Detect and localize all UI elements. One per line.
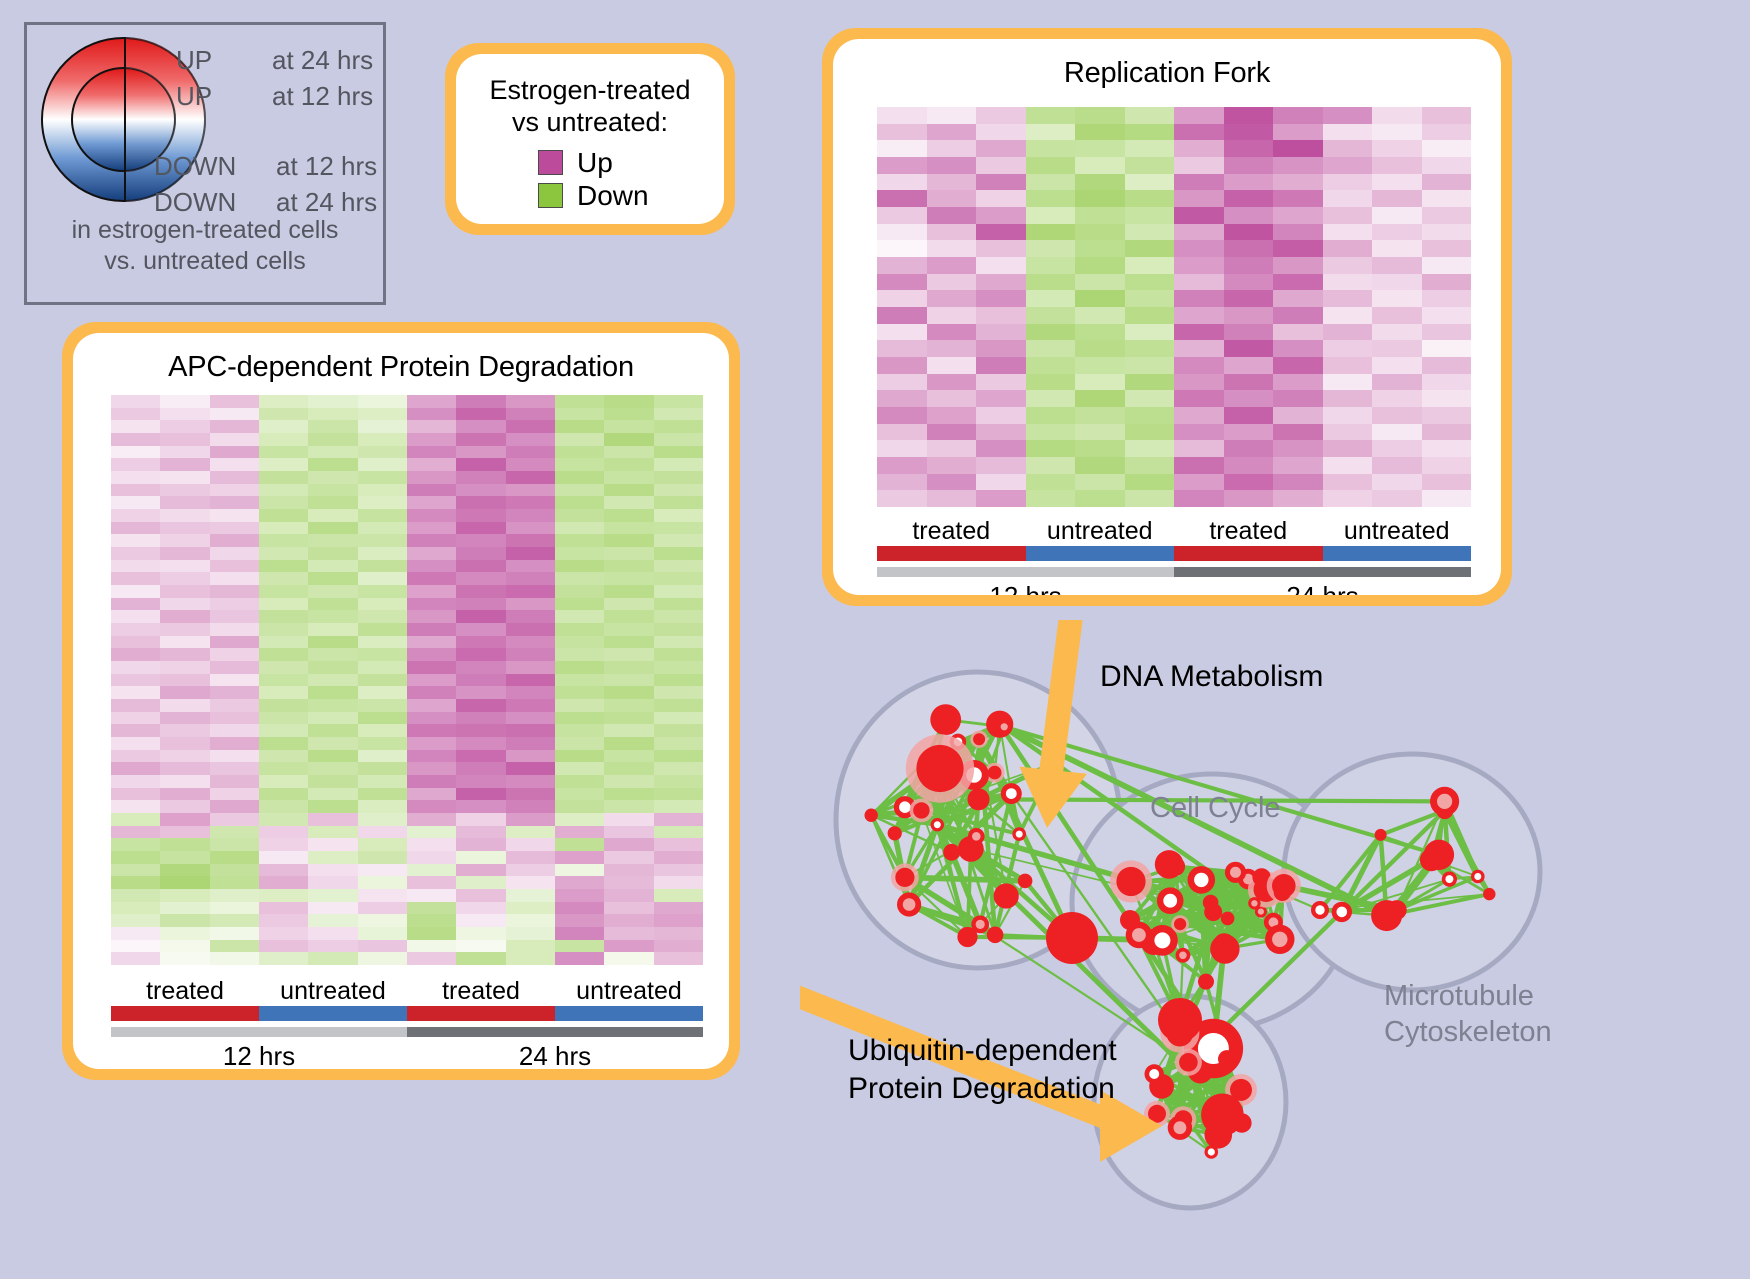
heatmap-cell [1026, 224, 1076, 241]
heatmap-cell [1224, 307, 1274, 324]
heatmap-cell [1026, 107, 1076, 124]
network-node[interactable] [930, 704, 961, 735]
heatmap-cell [111, 648, 160, 661]
heatmap-cell [259, 674, 308, 687]
heatmap-cell [604, 585, 653, 598]
heatmap-cell [308, 952, 357, 965]
heatmap-cell [1422, 324, 1472, 341]
heatmap-cell [877, 457, 927, 474]
heatmap-cell [259, 762, 308, 775]
heatmap-cell [976, 257, 1026, 274]
heatmap-cell [456, 522, 505, 535]
heatmap-cell [111, 952, 160, 965]
heatmap-cell [358, 724, 407, 737]
heatmap-cell [506, 940, 555, 953]
heatmap-cell [1075, 190, 1125, 207]
heatmap-cell [456, 547, 505, 560]
apc-degradation-heatmap [111, 395, 703, 965]
heatmap-cell [506, 636, 555, 649]
heatmap-cell [927, 490, 977, 507]
heatmap-cell [927, 174, 977, 191]
expression-legend-items: Up Down [456, 147, 724, 212]
heatmap-cell [604, 648, 653, 661]
heatmap-cell [358, 458, 407, 471]
heatmap-cell [308, 623, 357, 636]
heatmap-cell [456, 420, 505, 433]
heatmap-cell [604, 712, 653, 725]
network-node[interactable] [1424, 840, 1454, 870]
heatmap-cell [1026, 174, 1076, 191]
heatmap-cell [407, 420, 456, 433]
network-node[interactable] [987, 927, 1004, 944]
heatmap-cell [358, 686, 407, 699]
heatmap-cell [555, 661, 604, 674]
heatmap-cell [358, 661, 407, 674]
heatmap-cell [358, 648, 407, 661]
heatmap-cell [407, 560, 456, 573]
network-node[interactable] [1018, 874, 1033, 889]
heatmap-cell [1174, 290, 1224, 307]
network-node[interactable] [957, 927, 977, 947]
heatmap-cell [1323, 290, 1373, 307]
heatmap-cell [160, 788, 209, 801]
heatmap-cell [1323, 140, 1373, 157]
legend-item-down-label: Down [577, 180, 649, 212]
heatmap-cell [456, 737, 505, 750]
heatmap-cell [1224, 240, 1274, 257]
heatmap-cell [877, 207, 927, 224]
heatmap-cell [927, 307, 977, 324]
heatmap-cell [1174, 374, 1224, 391]
heatmap-cell [1323, 390, 1373, 407]
heatmap-cell [1026, 190, 1076, 207]
heatmap-cell [111, 712, 160, 725]
heatmap-cell [1026, 457, 1076, 474]
heatmap-cell [1224, 374, 1274, 391]
heatmap-cell [259, 813, 308, 826]
rf-time-bar [877, 567, 1471, 577]
heatmap-cell [308, 876, 357, 889]
heatmap-cell [506, 471, 555, 484]
heatmap-cell [308, 712, 357, 725]
heatmap-cell [160, 889, 209, 902]
heatmap-cell [555, 408, 604, 421]
heatmap-cell [210, 851, 259, 864]
heatmap-cell [1125, 324, 1175, 341]
network-node-core [903, 898, 916, 911]
heatmap-cell [210, 826, 259, 839]
heatmap-cell [1273, 390, 1323, 407]
heatmap-cell [506, 674, 555, 687]
heatmap-cell [555, 712, 604, 725]
network-node[interactable] [943, 844, 960, 861]
heatmap-cell [407, 484, 456, 497]
cluster-label-ubiquitin: Ubiquitin-dependent Protein Degradation [848, 1032, 1117, 1107]
heatmap-cell [976, 490, 1026, 507]
network-node[interactable] [865, 809, 878, 822]
heatmap-cell [1273, 290, 1323, 307]
heatmap-cell [927, 424, 977, 441]
heatmap-cell [1422, 357, 1472, 374]
heatmap-cell [407, 572, 456, 585]
heatmap-cell [259, 496, 308, 509]
heatmap-cell [210, 408, 259, 421]
network-node[interactable] [1201, 1094, 1244, 1137]
heatmap-cell [1323, 340, 1373, 357]
heatmap-cell [506, 952, 555, 965]
heatmap-cell [111, 610, 160, 623]
wheel-time-down-24: at 24 hrs [276, 187, 377, 218]
heatmap-cell [604, 775, 653, 788]
heatmap-cell [1224, 390, 1274, 407]
heatmap-cell [654, 547, 703, 560]
heatmap-cell [654, 598, 703, 611]
heatmap-cell [358, 623, 407, 636]
heatmap-cell [308, 636, 357, 649]
heatmap-cell [654, 623, 703, 636]
heatmap-cell [1422, 157, 1472, 174]
heatmap-cell [1372, 290, 1422, 307]
heatmap-cell [358, 927, 407, 940]
network-node[interactable] [1375, 829, 1387, 841]
heatmap-cell [358, 864, 407, 877]
network-node[interactable] [1274, 884, 1291, 901]
heatmap-cell [927, 390, 977, 407]
heatmap-cell [1273, 457, 1323, 474]
rf-group-label-3: treated [1174, 517, 1323, 546]
heatmap-cell [259, 889, 308, 902]
network-node[interactable] [895, 868, 914, 887]
heatmap-cell [604, 750, 653, 763]
legend-item-up: Up [538, 147, 724, 179]
heatmap-cell [259, 534, 308, 547]
heatmap-cell [1224, 490, 1274, 507]
heatmap-cell [1075, 407, 1125, 424]
heatmap-cell [654, 661, 703, 674]
heatmap-cell [1273, 490, 1323, 507]
heatmap-cell [111, 433, 160, 446]
heatmap-cell [1026, 357, 1076, 374]
heatmap-cell [604, 610, 653, 623]
heatmap-cell [1075, 107, 1125, 124]
network-node[interactable] [1203, 895, 1219, 911]
heatmap-cell [160, 648, 209, 661]
legend-item-up-label: Up [577, 147, 613, 179]
heatmap-cell [111, 851, 160, 864]
heatmap-cell [456, 686, 505, 699]
heatmap-cell [1224, 124, 1274, 141]
heatmap-cell [1075, 157, 1125, 174]
wheel-time-up-12: at 12 hrs [272, 81, 373, 112]
heatmap-cell [1273, 424, 1323, 441]
heatmap-cell [1075, 440, 1125, 457]
heatmap-cell [210, 395, 259, 408]
heatmap-cell [1224, 190, 1274, 207]
heatmap-cell [1026, 140, 1076, 157]
heatmap-cell [1125, 440, 1175, 457]
heatmap-cell [506, 851, 555, 864]
network-node-core [1208, 1148, 1215, 1155]
heatmap-cell [654, 433, 703, 446]
heatmap-cell [1125, 340, 1175, 357]
heatmap-cell [160, 826, 209, 839]
heatmap-cell [506, 788, 555, 801]
heatmap-cell [259, 420, 308, 433]
network-node[interactable] [1371, 900, 1402, 931]
heatmap-cell [308, 724, 357, 737]
heatmap-cell [407, 902, 456, 915]
heatmap-cell [654, 446, 703, 459]
network-node[interactable] [1221, 912, 1235, 926]
heatmap-cell [555, 826, 604, 839]
heatmap-cell [407, 813, 456, 826]
heatmap-cell [111, 496, 160, 509]
heatmap-cell [927, 207, 977, 224]
heatmap-cell [604, 509, 653, 522]
heatmap-cell [506, 408, 555, 421]
network-node[interactable] [973, 733, 985, 745]
heatmap-cell [160, 661, 209, 674]
heatmap-cell [1125, 190, 1175, 207]
heatmap-cell [1125, 490, 1175, 507]
apc-bar-treated-24 [407, 1006, 555, 1021]
heatmap-cell [1174, 190, 1224, 207]
heatmap-cell [1422, 257, 1472, 274]
heatmap-cell [976, 140, 1026, 157]
heatmap-cell [555, 800, 604, 813]
network-node[interactable] [916, 745, 963, 792]
heatmap-cell [927, 224, 977, 241]
network-node[interactable] [988, 766, 1002, 780]
heatmap-cell [210, 484, 259, 497]
heatmap-cell [1075, 390, 1125, 407]
rf-group-label-4: untreated [1323, 517, 1472, 546]
heatmap-cell [506, 724, 555, 737]
heatmap-cell [1422, 307, 1472, 324]
heatmap-cell [407, 800, 456, 813]
heatmap-cell [506, 876, 555, 889]
heatmap-cell [976, 290, 1026, 307]
heatmap-cell [259, 902, 308, 915]
heatmap-cell [555, 572, 604, 585]
heatmap-cell [604, 686, 653, 699]
heatmap-cell [111, 636, 160, 649]
heatmap-cell [308, 686, 357, 699]
heatmap-cell [160, 838, 209, 851]
network-node[interactable] [1116, 867, 1145, 896]
legend-title-line-2: vs untreated: [456, 106, 724, 138]
heatmap-cell [456, 826, 505, 839]
heatmap-cell [1372, 307, 1422, 324]
heatmap-cell [1174, 140, 1224, 157]
network-node[interactable] [1218, 1050, 1236, 1068]
heatmap-cell [654, 788, 703, 801]
heatmap-cell [555, 699, 604, 712]
heatmap-cell [358, 484, 407, 497]
heatmap-cell [358, 952, 407, 965]
heatmap-cell [456, 636, 505, 649]
heatmap-cell [877, 340, 927, 357]
heatmap-cell [407, 610, 456, 623]
heatmap-cell [308, 598, 357, 611]
rf-bar-treated-12 [877, 546, 1026, 561]
network-node[interactable] [1179, 1053, 1198, 1072]
heatmap-cell [259, 864, 308, 877]
heatmap-cell [1026, 324, 1076, 341]
heatmap-cell [407, 471, 456, 484]
heatmap-cell [506, 522, 555, 535]
heatmap-cell [506, 446, 555, 459]
heatmap-cell [111, 775, 160, 788]
heatmap-cell [604, 762, 653, 775]
heatmap-cell [407, 674, 456, 687]
heatmap-cell [358, 813, 407, 826]
heatmap-cell [1372, 107, 1422, 124]
heatmap-cell [358, 636, 407, 649]
heatmap-cell [259, 458, 308, 471]
heatmap-cell [210, 534, 259, 547]
heatmap-cell [259, 395, 308, 408]
network-node[interactable] [913, 802, 929, 818]
heatmap-cell [210, 712, 259, 725]
network-node[interactable] [888, 826, 902, 840]
heatmap-cell [407, 927, 456, 940]
heatmap-cell [877, 407, 927, 424]
heatmap-cell [308, 889, 357, 902]
heatmap-cell [555, 851, 604, 864]
heatmap-cell [210, 458, 259, 471]
heatmap-cell [1026, 340, 1076, 357]
heatmap-cell [1075, 324, 1125, 341]
heatmap-cell [259, 737, 308, 750]
heatmap-cell [407, 636, 456, 649]
network-node[interactable] [1158, 998, 1202, 1042]
expression-legend-panel: Estrogen-treated vs untreated: Up Down [445, 43, 735, 235]
heatmap-cell [407, 864, 456, 877]
network-node-core [1149, 1069, 1159, 1079]
heatmap-cell [308, 610, 357, 623]
heatmap-cell [604, 534, 653, 547]
heatmap-cell [1125, 224, 1175, 241]
heatmap-cell [160, 699, 209, 712]
network-node[interactable] [1174, 918, 1186, 930]
heatmap-cell [1075, 490, 1125, 507]
heatmap-cell [1224, 274, 1274, 291]
heatmap-cell [654, 560, 703, 573]
heatmap-cell [308, 674, 357, 687]
heatmap-cell [877, 107, 927, 124]
heatmap-cell [407, 762, 456, 775]
heatmap-cell [1422, 190, 1472, 207]
replication-fork-heatmap [877, 107, 1471, 507]
heatmap-cell [506, 864, 555, 877]
heatmap-cell [506, 661, 555, 674]
heatmap-cell [1323, 257, 1373, 274]
heatmap-cell [160, 560, 209, 573]
heatmap-cell [210, 876, 259, 889]
network-node[interactable] [1120, 910, 1140, 930]
heatmap-cell [506, 914, 555, 927]
heatmap-cell [259, 800, 308, 813]
network-node[interactable] [1046, 912, 1098, 964]
heatmap-cell [1075, 257, 1125, 274]
heatmap-cell [604, 433, 653, 446]
heatmap-cell [456, 674, 505, 687]
heatmap-cell [506, 813, 555, 826]
network-node-core [1016, 831, 1023, 838]
heatmap-cell [604, 902, 653, 915]
heatmap-cell [506, 496, 555, 509]
heatmap-cell [160, 940, 209, 953]
heatmap-cell [160, 572, 209, 585]
network-node[interactable] [1198, 974, 1214, 990]
heatmap-cell [1422, 390, 1472, 407]
heatmap-cell [877, 240, 927, 257]
rf-time-label-12: 12 hrs [877, 577, 1174, 595]
heatmap-cell [604, 471, 653, 484]
heatmap-cell [877, 474, 927, 491]
heatmap-cell [111, 788, 160, 801]
apc-time-label-24: 24 hrs [407, 1037, 703, 1069]
heatmap-cell [1273, 257, 1323, 274]
heatmap-cell [654, 572, 703, 585]
heatmap-cell [604, 889, 653, 902]
heatmap-cell [1075, 224, 1125, 241]
heatmap-cell [976, 340, 1026, 357]
heatmap-cell [308, 788, 357, 801]
heatmap-cell [976, 207, 1026, 224]
network-node[interactable] [994, 883, 1019, 908]
heatmap-cell [407, 775, 456, 788]
network-node-core [1006, 788, 1017, 799]
heatmap-cell [210, 737, 259, 750]
heatmap-cell [555, 623, 604, 636]
heatmap-cell [1273, 357, 1323, 374]
heatmap-cell [1174, 307, 1224, 324]
heatmap-cell [259, 547, 308, 560]
heatmap-cell [976, 407, 1026, 424]
heatmap-cell [160, 610, 209, 623]
heatmap-cell [654, 902, 703, 915]
heatmap-cell [160, 902, 209, 915]
heatmap-cell [111, 838, 160, 851]
heatmap-cell [1075, 124, 1125, 141]
heatmap-cell [160, 952, 209, 965]
heatmap-cell [654, 952, 703, 965]
heatmap-cell [976, 440, 1026, 457]
heatmap-cell [1422, 224, 1472, 241]
heatmap-cell [210, 522, 259, 535]
heatmap-cell [308, 395, 357, 408]
heatmap-cell [111, 408, 160, 421]
network-node[interactable] [1483, 888, 1495, 900]
heatmap-cell [1323, 424, 1373, 441]
heatmap-cell [1422, 274, 1472, 291]
heatmap-cell [358, 585, 407, 598]
heatmap-cell [111, 509, 160, 522]
wheel-label-down-24: DOWN [154, 187, 236, 218]
heatmap-cell [456, 838, 505, 851]
heatmap-cell [1273, 190, 1323, 207]
heatmap-cell [1026, 240, 1076, 257]
network-node[interactable] [1166, 857, 1185, 876]
heatmap-cell [1422, 440, 1472, 457]
heatmap-cell [654, 876, 703, 889]
heatmap-cell [604, 724, 653, 737]
network-node[interactable] [1210, 934, 1239, 963]
network-node[interactable] [968, 788, 990, 810]
network-node-core [976, 920, 985, 929]
